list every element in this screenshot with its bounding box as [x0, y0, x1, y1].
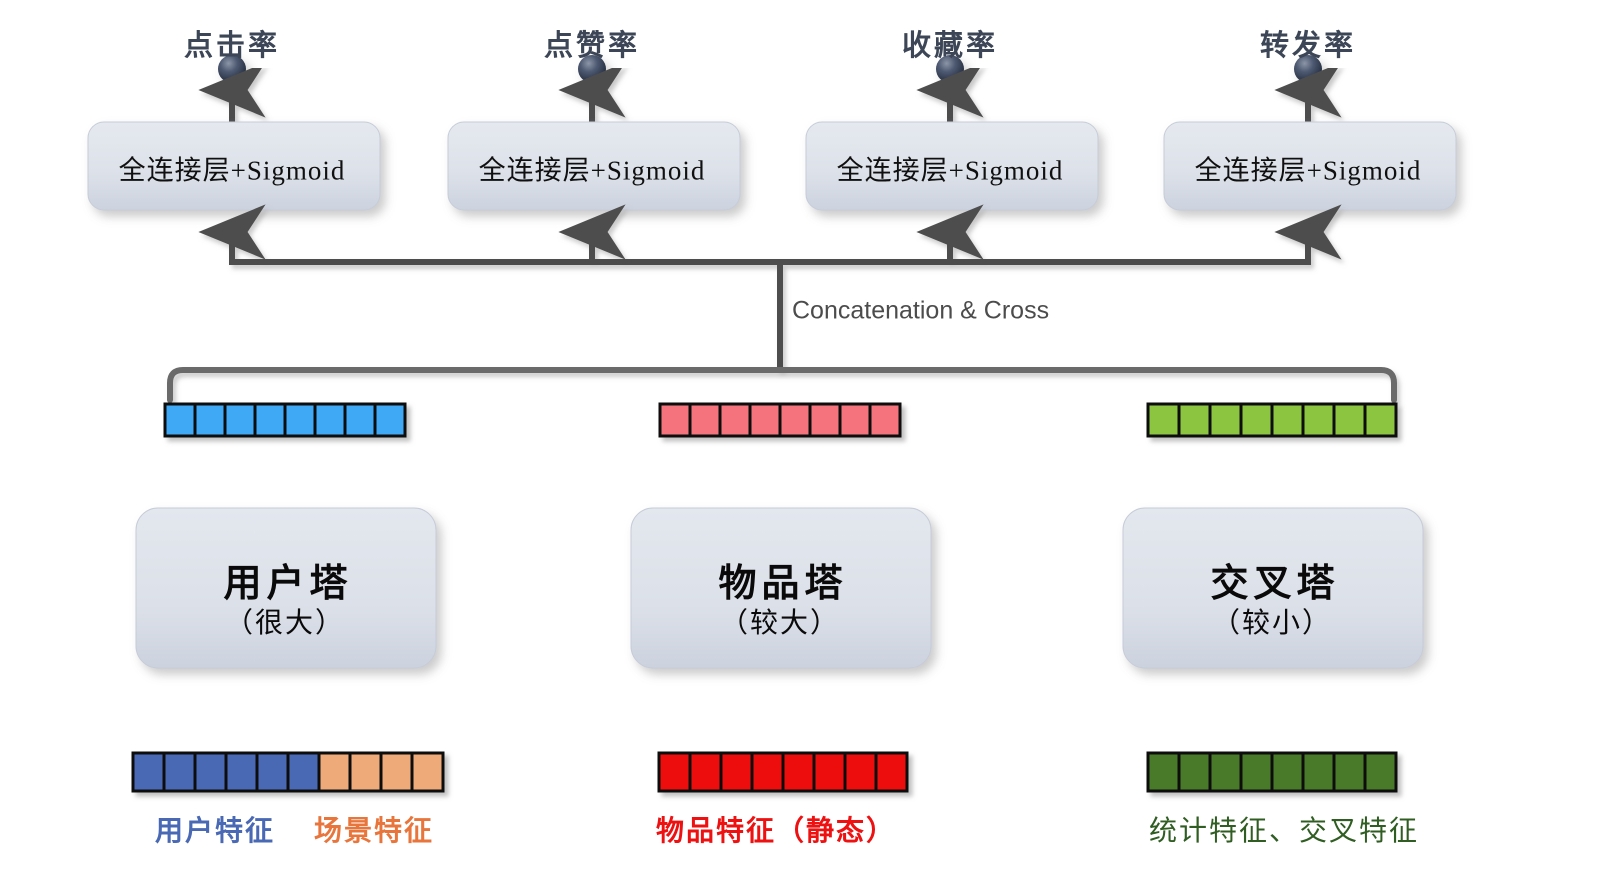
- cross-embedding-bar: [1148, 404, 1396, 436]
- cross-tower-box: [1123, 508, 1423, 668]
- user-tower-box: [136, 508, 436, 668]
- diagram-canvas: 点击率 点赞率 收藏率 转发率 全连接层+Sigmoid 全连接层+Sigmoi…: [0, 0, 1600, 896]
- fc-box-ctr: [88, 122, 380, 210]
- item-tower-box: [631, 508, 931, 668]
- output-node-spheres: [218, 55, 1322, 83]
- embedding-gather-bracket: [170, 370, 1394, 400]
- fc-box-fav: [806, 122, 1098, 210]
- architecture-diagram: [0, 0, 1600, 896]
- user-feature-bar: [133, 753, 443, 791]
- cross-tower-group: [1123, 404, 1423, 791]
- fc-layer-boxes: [88, 122, 1456, 210]
- fc-box-like: [448, 122, 740, 210]
- item-feature-bar: [659, 753, 907, 791]
- concat-distribution-bus: [232, 232, 1308, 370]
- cross-feature-bar: [1148, 753, 1396, 791]
- item-embedding-bar: [660, 404, 900, 436]
- arrows-fc-to-output: [232, 90, 1308, 126]
- user-embedding-bar: [165, 404, 405, 436]
- item-tower-group: [631, 404, 931, 791]
- fc-box-share: [1164, 122, 1456, 210]
- user-tower-group: [133, 404, 443, 791]
